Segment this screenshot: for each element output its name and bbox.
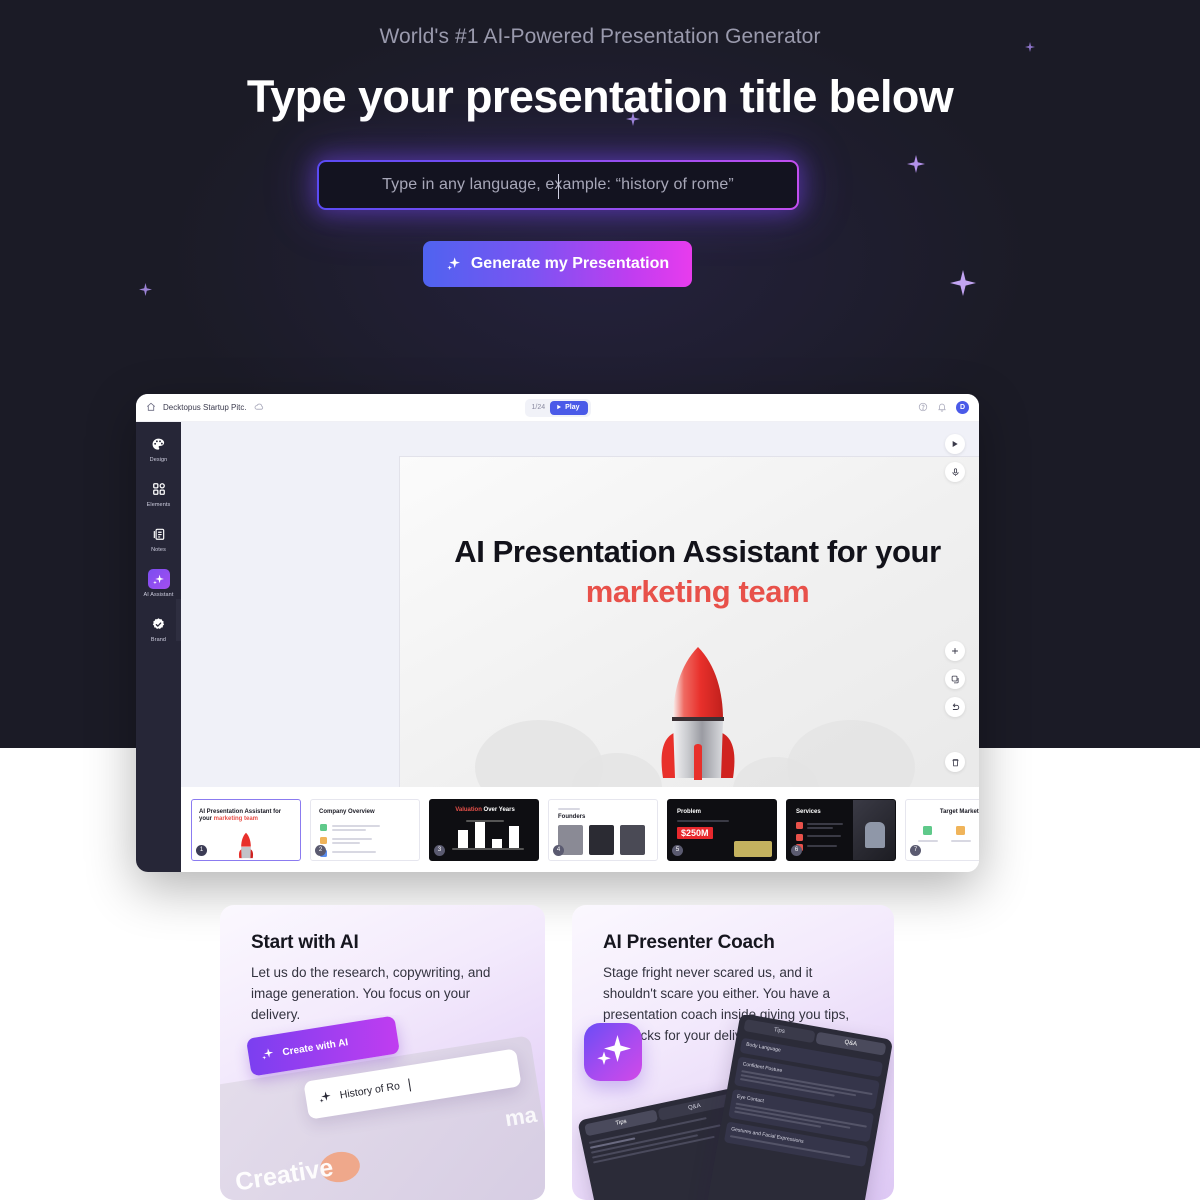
thumbnail-title: Founders (558, 814, 585, 820)
sparkle-icon (446, 256, 462, 272)
thumbnail-slide-5[interactable]: Problem $250M 5 (667, 799, 777, 861)
thumbnail-slide-3[interactable]: Valuation Over Years 3 (429, 799, 539, 861)
rocket-thumb-icon (228, 832, 264, 860)
grid-icon (148, 479, 170, 499)
thumbnail-title: Valuation Over Years (430, 807, 539, 813)
sidebar-item-ai-assistant[interactable]: AI Assistant (139, 569, 179, 598)
card-illustration: Tips Q&A Tips Q&A Body Language (572, 1015, 894, 1200)
duplicate-slide-button[interactable] (945, 669, 965, 689)
slide-title-plain: AI Presentation Assistant for your (454, 534, 941, 569)
play-slide-button[interactable] (945, 434, 965, 454)
sidebar-item-notes[interactable]: Notes (139, 524, 179, 553)
valuation-badge: $250M (677, 827, 713, 839)
thumbnail-slide-4[interactable]: Founders 4 (548, 799, 658, 861)
undo-button[interactable] (945, 697, 965, 717)
sidebar-item-brand-label: Brand (151, 637, 166, 643)
thumbnail-number: 5 (672, 845, 683, 856)
help-circle-icon[interactable] (918, 399, 928, 417)
generate-presentation-button[interactable]: Generate my Presentation (423, 241, 692, 287)
market-icon (923, 826, 932, 835)
slide-counter-group: 1/24 Play (524, 399, 590, 417)
page-title: Type your presentation title below (0, 71, 1200, 123)
prompt-input-inner[interactable]: Type in any language, example: “history … (319, 162, 797, 208)
check-badge-icon (148, 614, 170, 634)
sidebar-item-ai-assistant-label: AI Assistant (144, 592, 174, 598)
thumbnail-title: Problem (677, 809, 701, 815)
thumbnail-title: Target Markets (906, 809, 979, 815)
thumbnail-number: 6 (791, 845, 802, 856)
tab-tips[interactable]: Tips (584, 1109, 658, 1136)
text-cursor (558, 174, 559, 199)
sidebar-item-design-label: Design (150, 457, 168, 463)
slide-counter: 1/24 (531, 404, 545, 411)
cloud-icon (254, 399, 265, 417)
sparkle-icon (259, 1045, 275, 1064)
slide-title: AI Presentation Assistant for your marke… (400, 532, 979, 611)
card-title: Start with AI (251, 932, 359, 954)
sidebar-item-elements-label: Elements (147, 502, 171, 508)
rocket-image (623, 643, 773, 793)
app-mockup: Decktopus Startup Pitc. 1/24 Play (136, 394, 979, 872)
app-sidebar: Design Elements Notes (136, 422, 181, 872)
feature-card-start-with-ai[interactable]: Start with AI Let us do the research, co… (220, 905, 545, 1200)
tips-panel-front: Tips Q&A Body Language Confident Posture… (706, 1015, 893, 1200)
sidebar-item-elements[interactable]: Elements (139, 479, 179, 508)
thumbnail-slide-2[interactable]: Company Overview 2 (310, 799, 420, 861)
thumbnail-slide-7[interactable]: Target Markets 7 (905, 799, 979, 861)
palette-icon (148, 434, 170, 454)
feature-card-ai-presenter-coach[interactable]: AI Presenter Coach Stage fright never sc… (572, 905, 894, 1200)
prompt-input-wrapper[interactable]: Type in any language, example: “history … (317, 160, 799, 210)
active-slide[interactable]: AI Presentation Assistant for your marke… (399, 456, 979, 794)
canvas-rail-top (945, 434, 965, 482)
generate-presentation-label: Generate my Presentation (471, 255, 669, 273)
bell-icon[interactable] (937, 399, 947, 417)
bullet-icon (796, 834, 803, 841)
home-icon[interactable] (146, 399, 156, 417)
sidebar-item-design[interactable]: Design (139, 434, 179, 463)
feature-cards: Start with AI Let us do the research, co… (0, 905, 1200, 1200)
sparkle-star-icon (139, 283, 152, 296)
thumbnail-title: Company Overview (319, 809, 375, 815)
slide-title-accent: marketing team (586, 574, 810, 609)
text-cursor (408, 1078, 411, 1091)
thumbnail-title: Services (796, 809, 821, 815)
tab-qa[interactable]: Q&A (658, 1094, 732, 1121)
thumb1-title-accent: marketing team (214, 816, 258, 822)
partial-word: ma (503, 1102, 538, 1133)
add-slide-button[interactable] (945, 641, 965, 661)
slide-canvas-area: AI Presentation Assistant for your marke… (181, 422, 979, 787)
thumbnail-number: 1 (196, 845, 207, 856)
sidebar-item-notes-label: Notes (151, 547, 166, 553)
presentation-title[interactable]: Decktopus Startup Pitc. (163, 403, 247, 412)
thumbnail-number: 2 (315, 845, 326, 856)
play-label: Play (565, 404, 579, 411)
create-with-ai-label: Create with AI (282, 1037, 349, 1058)
sparkle-star-icon (950, 270, 976, 296)
card-illustration: Creative ma Create with AI (220, 1015, 545, 1200)
canvas-rail-middle (945, 641, 965, 717)
sparkle-star-icon (907, 155, 925, 173)
app-topbar: Decktopus Startup Pitc. 1/24 Play (136, 394, 979, 422)
thumbnail-number: 7 (910, 845, 921, 856)
thumbnail-slide-1[interactable]: AI Presentation Assistant for your marke… (191, 799, 301, 861)
delete-slide-button[interactable] (945, 752, 965, 772)
slide-filmstrip[interactable]: AI Presentation Assistant for your marke… (181, 787, 979, 872)
sparkle-icon (148, 569, 170, 589)
canvas-rail-bottom (945, 752, 965, 772)
sparkle-icon-tile (584, 1023, 642, 1081)
page-root: World's #1 AI-Powered Presentation Gener… (0, 0, 1200, 1200)
market-icon (956, 826, 965, 835)
sparkle-icon (595, 1032, 631, 1073)
play-icon (556, 404, 562, 412)
avatar[interactable]: D (956, 401, 969, 414)
bullet-icon (320, 837, 327, 844)
thumbnail-slide-6[interactable]: Services 6 (786, 799, 896, 861)
hero-eyebrow: World's #1 AI-Powered Presentation Gener… (0, 25, 1200, 49)
bullet-icon (320, 824, 327, 831)
notes-icon (148, 524, 170, 544)
play-button[interactable]: Play (550, 401, 587, 415)
sparkle-icon (317, 1088, 333, 1107)
thumbnail-number: 3 (434, 845, 445, 856)
bullet-icon (796, 822, 803, 829)
card-title: AI Presenter Coach (603, 932, 775, 954)
sidebar-item-brand[interactable]: Brand (139, 614, 179, 643)
microphone-button[interactable] (945, 462, 965, 482)
ai-prompt-value: History of Ro (339, 1080, 401, 1101)
thumbnail-number: 4 (553, 845, 564, 856)
